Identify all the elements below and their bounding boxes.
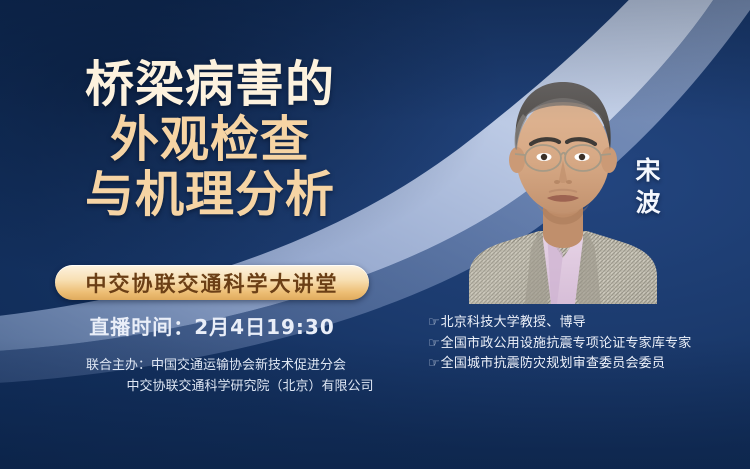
pointing-hand-icon: ☞ [428, 354, 440, 375]
series-badge: 中交协联交通科学大讲堂 [55, 265, 369, 300]
pointing-hand-icon: ☞ [428, 313, 440, 334]
webinar-poster: 桥梁病害的 外观检查 与机理分析 中交协联交通科学大讲堂 直播时间：2月4日19… [0, 0, 750, 469]
organizers-block: 联合主办：中国交通运输协会新技术促进分会 中交协联交通科学研究院（北京）有限公司 [0, 355, 432, 398]
title-line-3: 与机理分析 [0, 170, 420, 221]
title-line-2: 外观检查 [0, 115, 420, 166]
series-badge-label: 中交协联交通科学大讲堂 [86, 268, 339, 298]
organizer-line-2: 中交协联交通科学研究院（北京）有限公司 [0, 376, 432, 397]
credential-row: ☞ 全国市政公用设施抗震专项论证专家库专家 [428, 334, 746, 355]
speaker-credentials: ☞ 北京科技大学教授、博导 ☞ 全国市政公用设施抗震专项论证专家库专家 ☞ 全国… [428, 313, 746, 375]
title-line-1: 桥梁病害的 [0, 60, 420, 111]
speaker-name-char-1: 宋 [631, 155, 665, 187]
credential-row: ☞ 全国城市抗震防灾规划审查委员会委员 [428, 354, 746, 375]
credential-label: 北京科技大学教授、博导 [441, 313, 586, 334]
credential-row: ☞ 北京科技大学教授、博导 [428, 313, 746, 334]
poster-title: 桥梁病害的 外观检查 与机理分析 [0, 60, 420, 221]
credential-label: 全国城市抗震防灾规划审查委员会委员 [441, 354, 665, 375]
speaker-name: 宋 波 [631, 155, 665, 219]
organizer-line-1: 联合主办：中国交通运输协会新技术促进分会 [0, 355, 432, 376]
pointing-hand-icon: ☞ [428, 334, 440, 355]
speaker-name-char-2: 波 [631, 187, 665, 219]
credential-label: 全国市政公用设施抗震专项论证专家库专家 [441, 334, 692, 355]
airtime-text: 直播时间：2月4日19:30 [0, 311, 424, 340]
